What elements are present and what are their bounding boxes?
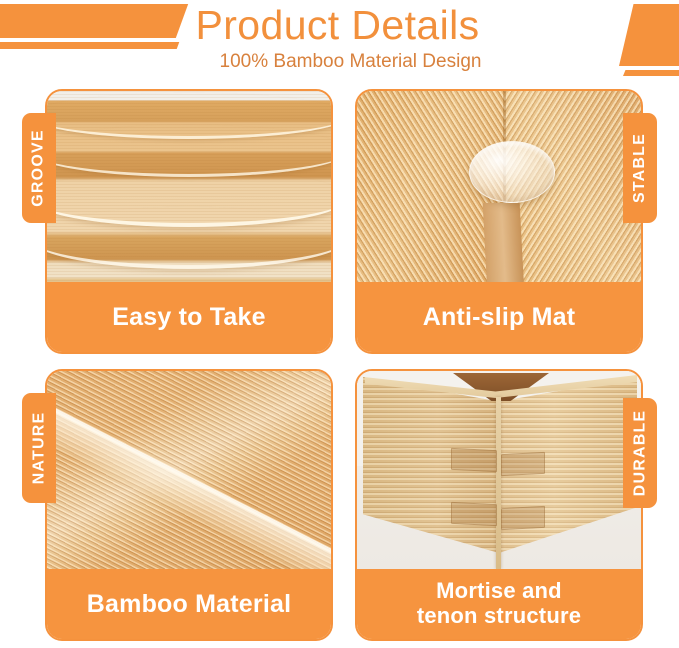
card-photo-antislip xyxy=(357,91,641,282)
bamboo-board-texture-icon xyxy=(47,91,331,282)
box-corner-edge-icon xyxy=(496,397,501,569)
card-photo-groove xyxy=(47,91,331,282)
diagonal-bamboo-texture-icon xyxy=(47,371,331,569)
tenon-joint-icon xyxy=(501,452,545,476)
bamboo-corner-texture-icon xyxy=(357,91,641,282)
header-text-block: Product Details 100% Bamboo Material Des… xyxy=(0,0,679,74)
card-badge-stable-label: STABLE xyxy=(631,133,649,203)
card-badge-nature-label: NATURE xyxy=(30,412,48,485)
page-subtitle: 100% Bamboo Material Design xyxy=(0,48,675,74)
anti-slip-pad-icon xyxy=(469,141,555,203)
card-badge-stable: STABLE xyxy=(623,113,657,223)
tenon-joint-icon xyxy=(451,448,497,472)
card-caption-mortise-tenon: Mortise and tenon structure xyxy=(357,569,641,639)
card-caption-line-2: tenon structure xyxy=(417,604,581,629)
card-caption-bamboo-material: Bamboo Material xyxy=(47,569,331,639)
tenon-joint-icon xyxy=(501,506,545,530)
feature-card-durable: Mortise and tenon structure xyxy=(355,369,643,641)
card-badge-nature: NATURE xyxy=(22,393,56,503)
card-photo-bamboo-material xyxy=(47,371,331,569)
groove-curve-icon xyxy=(47,207,331,269)
page-title: Product Details xyxy=(0,0,675,48)
feature-card-groove: Easy to Take xyxy=(45,89,333,354)
card-badge-groove-label: GROOVE xyxy=(30,129,48,206)
groove-curve-icon xyxy=(47,169,331,227)
card-photo-mortise-tenon xyxy=(357,371,641,569)
card-badge-groove: GROOVE xyxy=(22,113,56,223)
card-caption-line-1: Mortise and xyxy=(417,579,581,604)
box-corner-texture-icon xyxy=(357,371,641,569)
tenon-joint-icon xyxy=(451,502,497,526)
header: Product Details 100% Bamboo Material Des… xyxy=(0,0,679,82)
groove-curve-icon xyxy=(47,93,331,139)
card-badge-durable-label: DURABLE xyxy=(631,410,649,497)
feature-card-nature: Bamboo Material xyxy=(45,369,333,641)
card-caption-antislip: Anti-slip Mat xyxy=(357,282,641,352)
feature-card-grid: Easy to Take GROOVE Anti-slip Mat STABLE xyxy=(0,86,679,648)
product-details-infographic: Product Details 100% Bamboo Material Des… xyxy=(0,0,679,648)
card-caption-groove: Easy to Take xyxy=(47,282,331,352)
groove-curve-icon xyxy=(47,125,331,177)
feature-card-stable: Anti-slip Mat xyxy=(355,89,643,354)
card-badge-durable: DURABLE xyxy=(623,398,657,508)
bamboo-edge-band-icon xyxy=(482,203,524,282)
